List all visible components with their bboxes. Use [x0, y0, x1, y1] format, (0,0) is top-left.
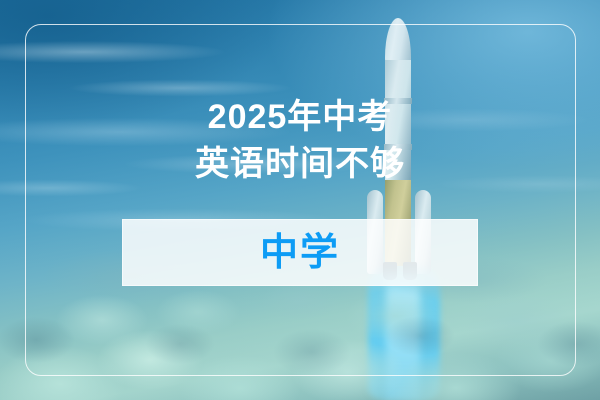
thumbnail-card[interactable]: 2025年中考 英语时间不够 中学: [0, 0, 600, 400]
card-content: 2025年中考 英语时间不够 中学: [0, 0, 600, 400]
category-badge[interactable]: 中学: [122, 219, 478, 286]
category-badge-label: 中学: [260, 234, 340, 272]
title-line-1: 2025年中考: [195, 94, 405, 141]
title-line-2: 英语时间不够: [195, 141, 405, 188]
card-title: 2025年中考 英语时间不够: [195, 94, 405, 188]
